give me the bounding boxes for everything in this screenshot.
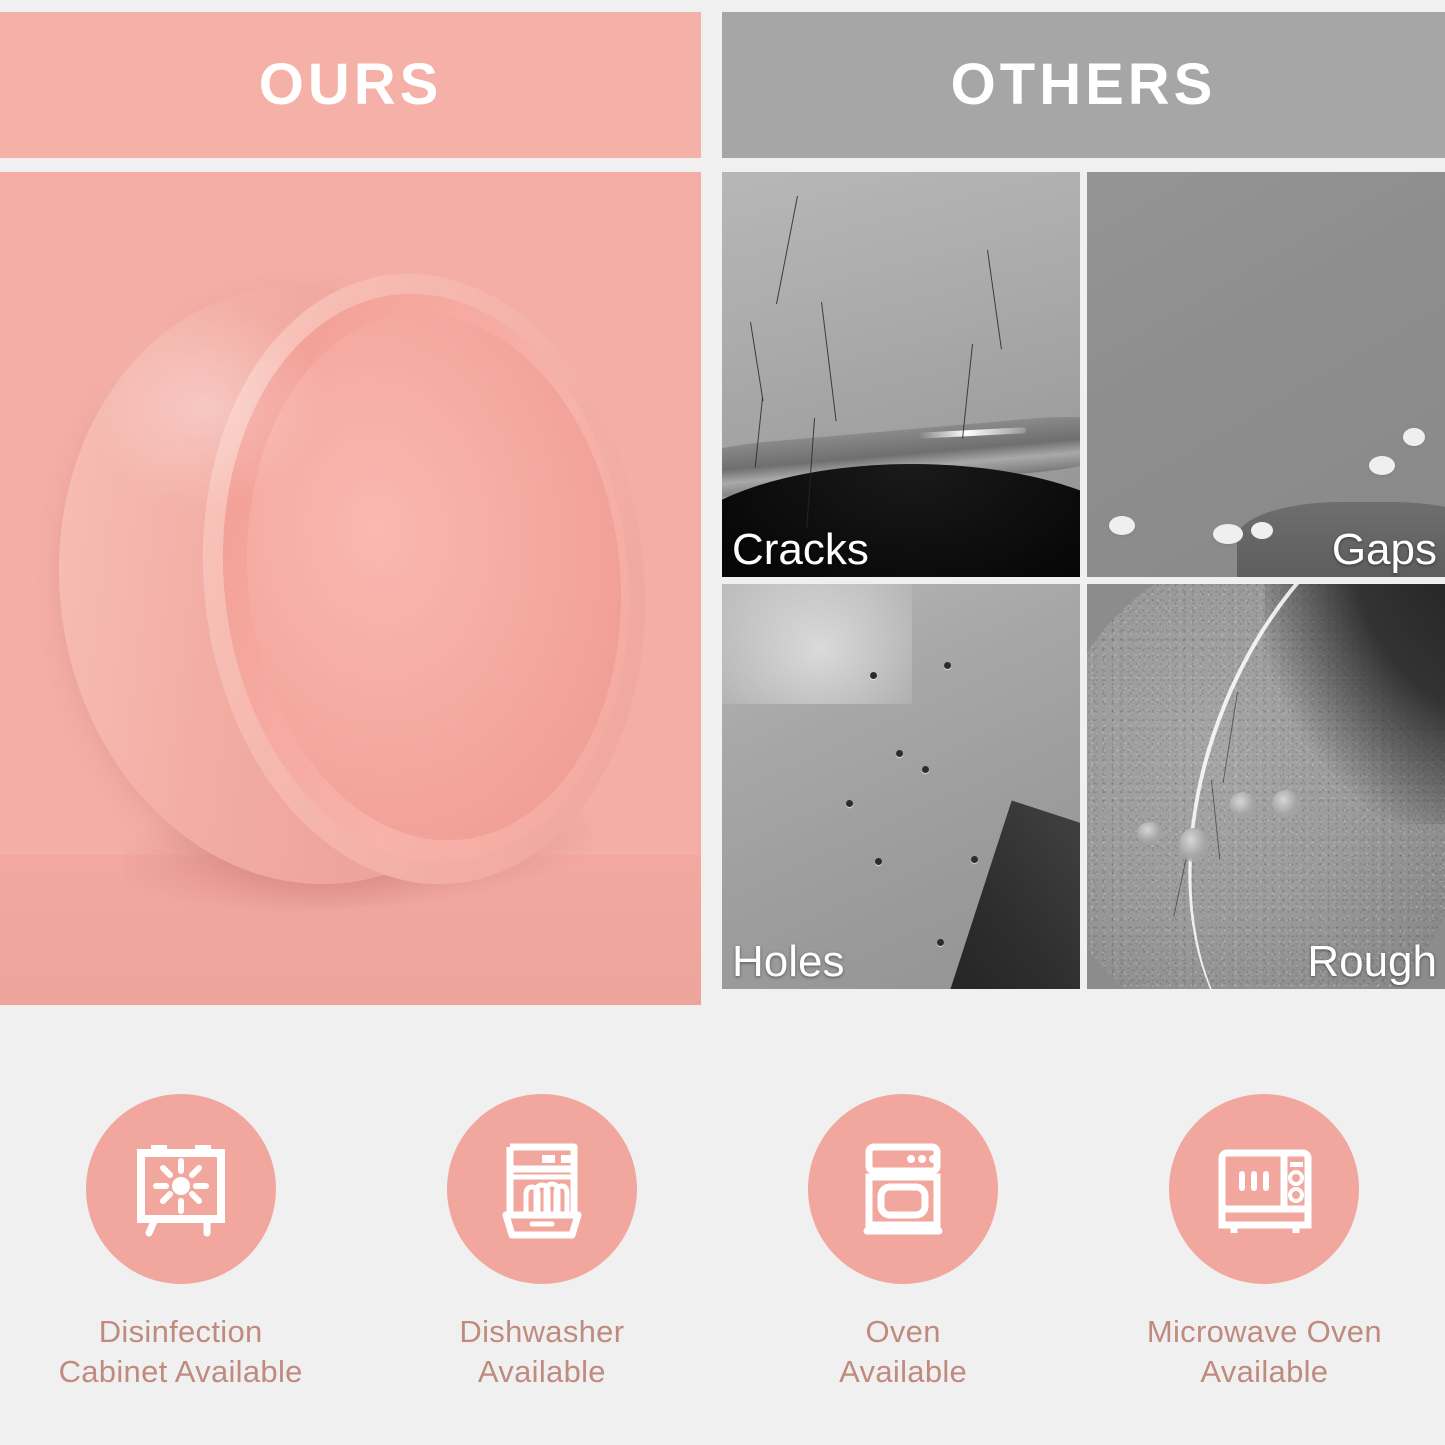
gap-bump — [1403, 428, 1425, 446]
rough-blemish — [1137, 822, 1163, 844]
feature-label-line2: Cabinet Available — [59, 1352, 303, 1392]
defect-holes: Holes — [722, 584, 1080, 989]
defect-label-holes: Holes — [732, 939, 845, 985]
pinhole — [875, 858, 882, 865]
gap-bump — [1251, 522, 1273, 539]
feature-label-line1: Microwave Oven — [1147, 1312, 1382, 1352]
feature-label: Oven Available — [839, 1312, 967, 1391]
rough-blemish — [1272, 790, 1300, 818]
defect-rough: Rough — [1087, 584, 1445, 989]
header-ours: OURS — [0, 12, 701, 158]
pinhole — [971, 856, 978, 863]
pinhole — [922, 766, 929, 773]
comparison-header: OURS OTHERS — [0, 12, 1445, 158]
header-others-label: OTHERS — [951, 56, 1217, 114]
header-others: OTHERS — [722, 12, 1445, 158]
disinfection-cabinet-icon — [125, 1133, 237, 1245]
gap-bump — [1213, 524, 1243, 544]
comparison-area: Cracks Gaps Holes — [0, 172, 1445, 1005]
feature-label-line1: Oven — [839, 1312, 967, 1352]
feature-label: Dishwasher Available — [459, 1312, 624, 1391]
feature-icon-circle — [447, 1094, 637, 1284]
pinhole — [846, 800, 853, 807]
gap-bump — [1369, 456, 1395, 475]
feature-microwave-oven: Microwave Oven Available — [1084, 1060, 1445, 1445]
rough-blemish — [1229, 792, 1257, 818]
feature-label-line1: Dishwasher — [459, 1312, 624, 1352]
feature-label-line2: Available — [1147, 1352, 1382, 1392]
others-defect-grid: Cracks Gaps Holes — [722, 172, 1445, 1005]
feature-icon-circle — [808, 1094, 998, 1284]
feature-oven: Oven Available — [723, 1060, 1084, 1445]
feature-label-line1: Disinfection — [59, 1312, 303, 1352]
feature-disinfection-cabinet: Disinfection Cabinet Available — [0, 1060, 361, 1445]
defect-label-gaps: Gaps — [1332, 527, 1437, 573]
feature-label: Microwave Oven Available — [1147, 1312, 1382, 1391]
product-image-silicone-mold — [52, 267, 652, 907]
pinhole — [870, 672, 877, 679]
rough-blemish — [1179, 828, 1209, 862]
pinhole — [944, 662, 951, 669]
pinhole — [937, 939, 944, 946]
defect-cracks: Cracks — [722, 172, 1080, 577]
feature-label-line2: Available — [459, 1352, 624, 1392]
feature-badges-row: Disinfection Cabinet Available — [0, 1060, 1445, 1445]
oven-icon — [847, 1133, 959, 1245]
header-ours-label: OURS — [259, 56, 443, 114]
dishwasher-icon — [486, 1133, 598, 1245]
defect-label-cracks: Cracks — [732, 527, 869, 573]
feature-icon-circle — [86, 1094, 276, 1284]
microwave-oven-icon — [1208, 1133, 1320, 1245]
feature-label-line2: Available — [839, 1352, 967, 1392]
holes-highlight — [722, 584, 912, 704]
feature-dishwasher: Dishwasher Available — [361, 1060, 722, 1445]
feature-label: Disinfection Cabinet Available — [59, 1312, 303, 1391]
ours-product-panel — [0, 172, 701, 1005]
gap-bump — [1109, 516, 1135, 535]
defect-gaps: Gaps — [1087, 172, 1445, 577]
defect-label-rough: Rough — [1307, 939, 1437, 985]
feature-icon-circle — [1169, 1094, 1359, 1284]
pinhole — [896, 750, 903, 757]
